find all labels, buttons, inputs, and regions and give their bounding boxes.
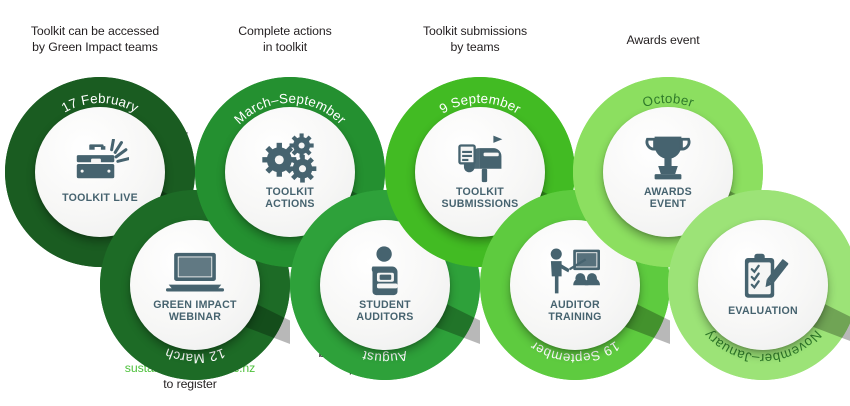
step-evaluation[interactable]: November–January EVALUATION [668, 190, 850, 380]
gears-icon [261, 133, 319, 183]
caption-toolkit-actions: Complete actions in toolkit [180, 24, 390, 55]
caption-toolkit-live: Toolkit can be accessed by Green Impact … [0, 24, 200, 55]
clipboard-pencil-icon [734, 252, 792, 302]
timeline-diagram: Toolkit can be accessed by Green Impact … [0, 0, 850, 406]
mailbox-icon [451, 133, 509, 183]
caption-toolkit-submissions: Toolkit submissions by teams [370, 24, 580, 55]
hub-label-student-auditors: STUDENT AUDITORS [356, 300, 413, 323]
caption-awards-event: Awards event [558, 33, 768, 49]
trophy-icon [639, 133, 697, 183]
hub-label-green-impact-webinar: GREEN IMPACT WEBINAR [153, 300, 236, 323]
hub-label-evaluation: EVALUATION [728, 306, 798, 318]
toolbox-icon [71, 139, 129, 189]
hub-evaluation[interactable]: EVALUATION [698, 220, 828, 350]
hub-label-auditor-training: AUDITOR TRAINING [548, 300, 601, 323]
